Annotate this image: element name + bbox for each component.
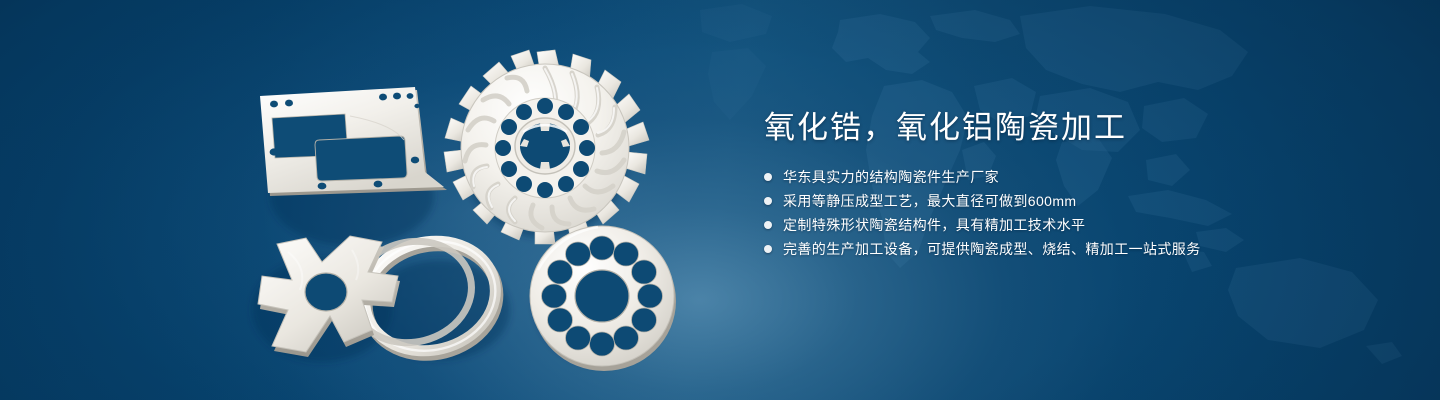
promotional-banner: 氧化锆，氧化铝陶瓷加工 华东具实力的结构陶瓷件生产厂家 采用等静压成型工艺，最大… [0, 0, 1440, 400]
product-photo-group [0, 0, 720, 400]
feature-list: 华东具实力的结构陶瓷件生产厂家 采用等静压成型工艺，最大直径可做到600mm 定… [764, 166, 1404, 260]
list-item: 完善的生产加工设备，可提供陶瓷成型、烧结、精加工一站式服务 [764, 238, 1404, 260]
list-item: 定制特殊形状陶瓷结构件，具有精加工技术水平 [764, 214, 1404, 236]
ceramic-mounting-plate-shape [260, 87, 447, 196]
feature-text: 采用等静压成型工艺，最大直径可做到600mm [783, 190, 1076, 212]
ceramic-impeller-shape [444, 50, 649, 244]
list-item: 采用等静压成型工艺，最大直径可做到600mm [764, 190, 1404, 212]
bullet-dot-icon [764, 173, 772, 181]
feature-text: 定制特殊形状陶瓷结构件，具有精加工技术水平 [783, 214, 1085, 236]
bullet-dot-icon [764, 197, 772, 205]
bullet-dot-icon [764, 245, 772, 253]
banner-text-block: 氧化锆，氧化铝陶瓷加工 华东具实力的结构陶瓷件生产厂家 采用等静压成型工艺，最大… [764, 106, 1404, 276]
bullet-dot-icon [764, 221, 772, 229]
ceramic-perforated-disc-shape [530, 226, 676, 371]
feature-text: 完善的生产加工设备，可提供陶瓷成型、烧结、精加工一站式服务 [783, 238, 1201, 260]
list-item: 华东具实力的结构陶瓷件生产厂家 [764, 166, 1404, 188]
banner-headline: 氧化锆，氧化铝陶瓷加工 [764, 106, 1404, 150]
feature-text: 华东具实力的结构陶瓷件生产厂家 [783, 166, 999, 188]
